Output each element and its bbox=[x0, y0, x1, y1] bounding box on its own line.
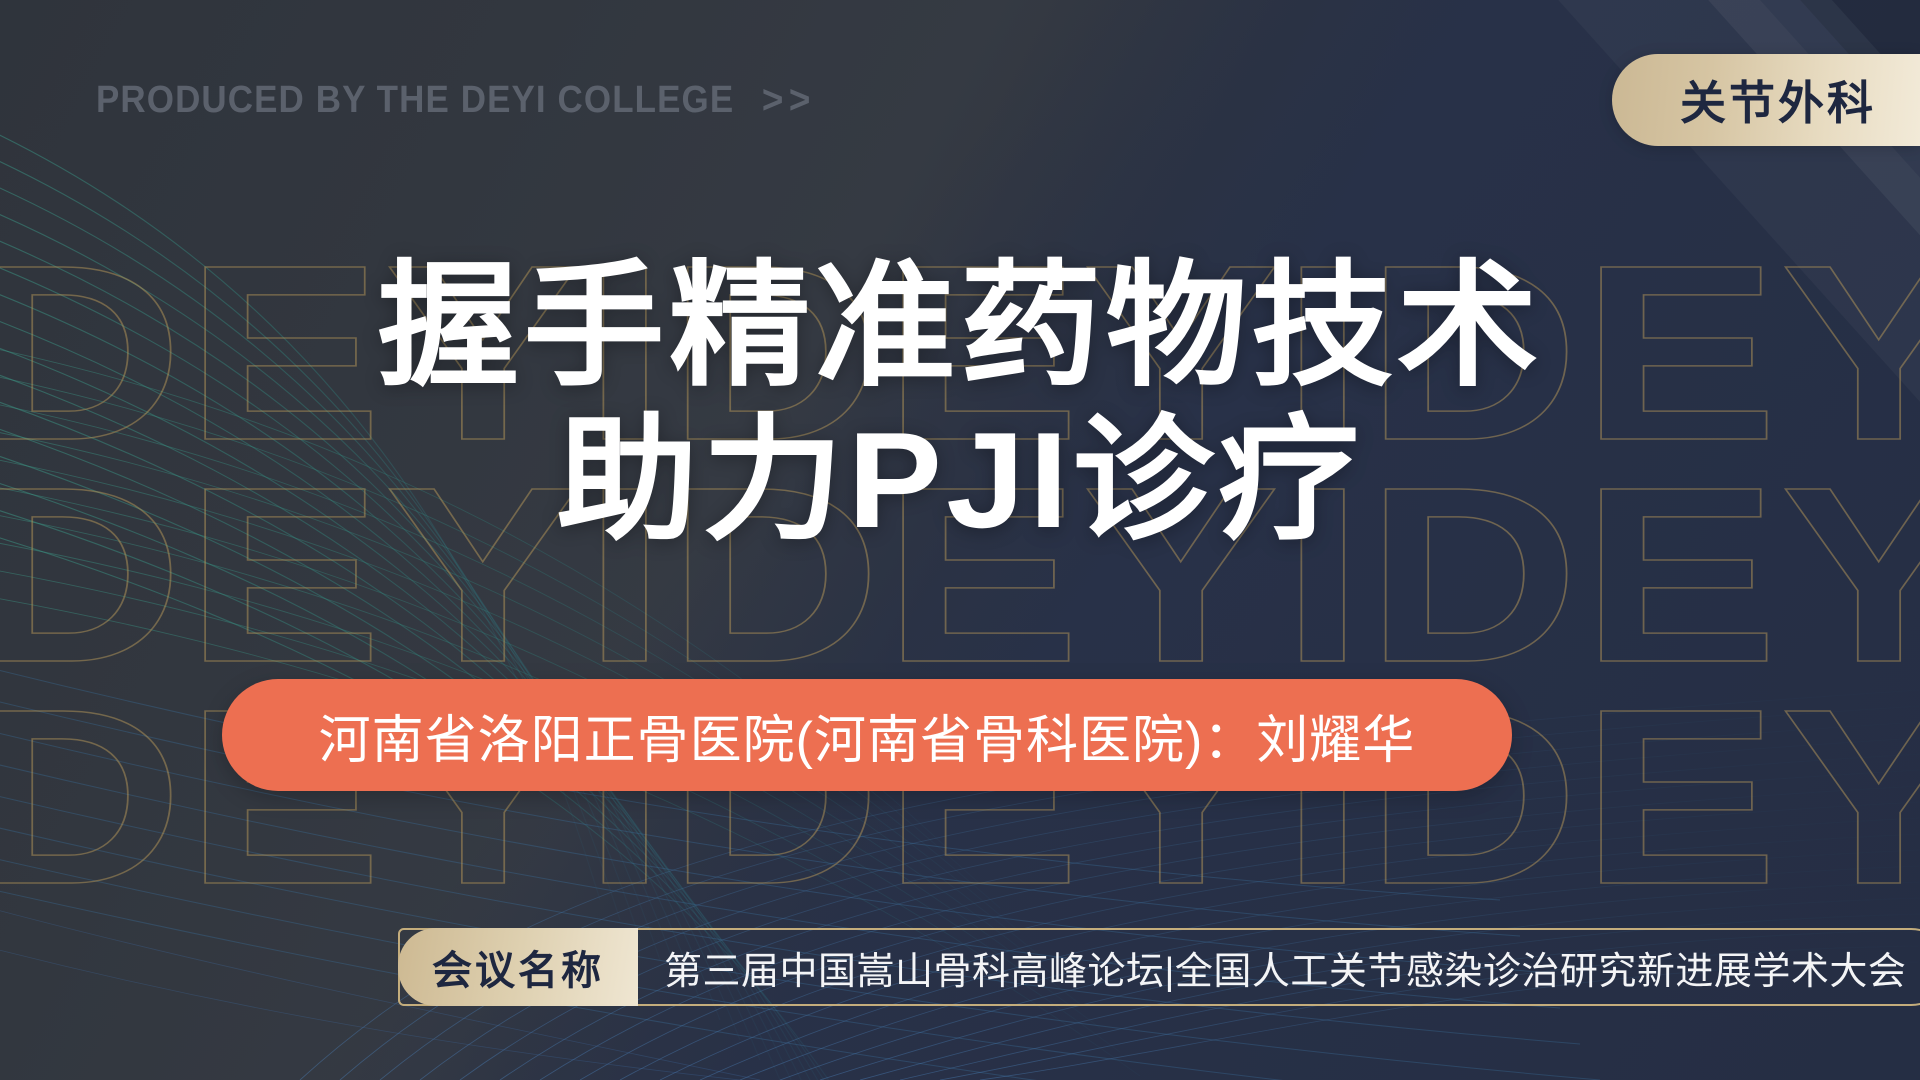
speaker-affiliation-pill: 河南省洛阳正骨医院(河南省骨科医院)：刘耀华 bbox=[222, 679, 1512, 791]
department-badge-label: 关节外科 bbox=[1680, 67, 1876, 133]
speaker-affiliation-text: 河南省洛阳正骨医院(河南省骨科医院)：刘耀华 bbox=[319, 698, 1416, 773]
producer-eyebrow: PRODUCED BY THE DEYI COLLEGE >> bbox=[96, 78, 816, 123]
producer-eyebrow-text: PRODUCED BY THE DEYI COLLEGE bbox=[96, 79, 734, 122]
chevron-right-icon: >> bbox=[762, 78, 816, 123]
conference-name-text: 第三届中国嵩山骨科高峰论坛|全国人工关节感染诊治研究新进展学术大会 bbox=[664, 940, 1906, 995]
department-badge: 关节外科 bbox=[1612, 54, 1920, 146]
conference-label-text: 会议名称 bbox=[432, 938, 604, 996]
conference-label-pill: 会议名称 bbox=[398, 928, 638, 1006]
slide-canvas: DEYIDEYIDEYIDEYIDEYI DEYIDEYIDEYIDEYIDEY… bbox=[0, 0, 1920, 1080]
conference-name-bar: 会议名称 第三届中国嵩山骨科高峰论坛|全国人工关节感染诊治研究新进展学术大会 bbox=[398, 928, 1920, 1006]
conference-name-text-wrap: 第三届中国嵩山骨科高峰论坛|全国人工关节感染诊治研究新进展学术大会 bbox=[638, 930, 1920, 1004]
